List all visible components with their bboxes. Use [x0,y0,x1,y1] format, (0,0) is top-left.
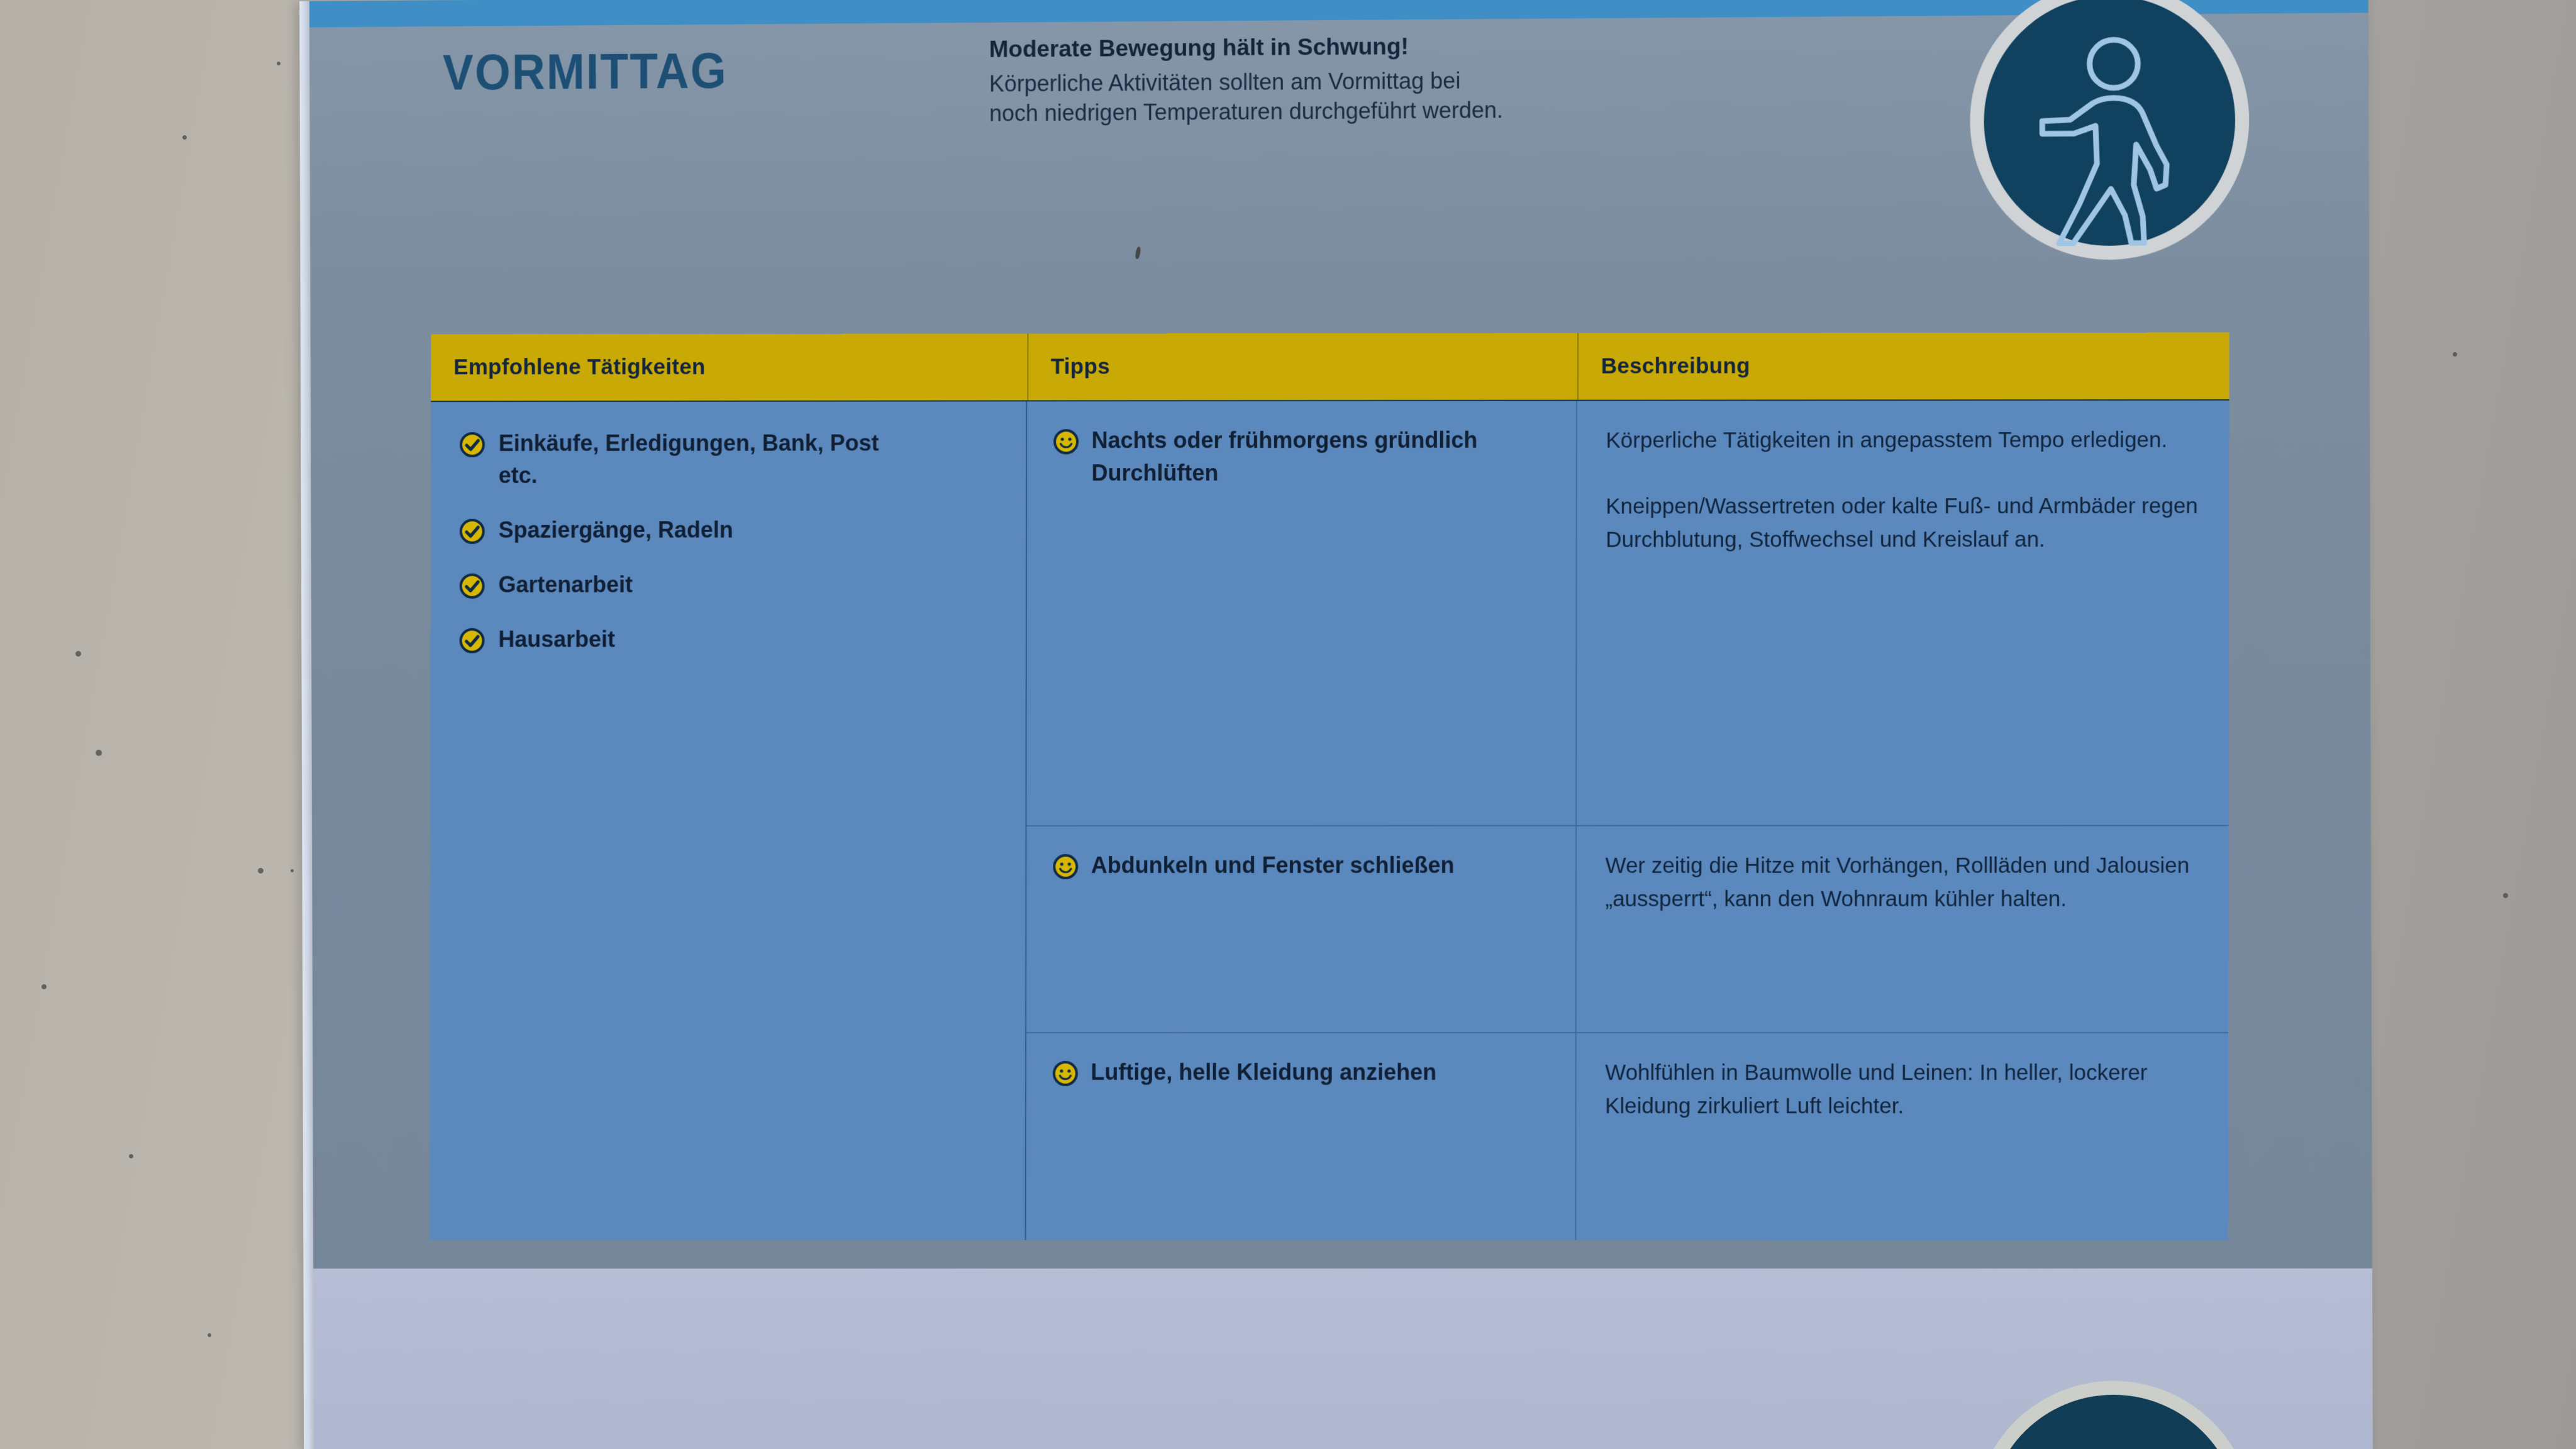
description-paragraph: Kneippen/Wassertreten oder kalte Fuß- un… [1606,489,2204,557]
activities-cell: Einkäufe, Erledigungen, Bank, Post etc. … [430,401,1027,1240]
walking-pedestrian-icon [1984,0,2236,247]
column-header-tips: Tipps [1027,333,1577,401]
description-cell: Körperliche Tätigkeiten in angepasstem T… [1577,401,2229,825]
tip-label: Abdunkeln und Fenster schließen [1091,849,1455,882]
wall-speck [277,62,280,65]
smiley-face-icon [1053,854,1078,879]
smiley-face-icon [1053,429,1079,454]
tip-item: Abdunkeln und Fenster schließen [1053,849,1558,882]
wall-speck [291,869,294,872]
check-circle-icon [460,519,485,544]
list-item: Spaziergänge, Radeln [460,514,1007,547]
description-cell: Wer zeitig die Hitze mit Vorhängen, Roll… [1576,826,2228,1032]
tip-label: Luftige, helle Kleidung anziehen [1091,1056,1436,1089]
description-paragraph: Wohlfühlen in Baumwolle und Leinen: In h… [1605,1056,2203,1123]
recommendations-table: Empfohlene Tätigkeiten Tipps Beschreibun… [430,333,2229,1240]
tip-cell: Abdunkeln und Fenster schließen [1026,826,1577,1033]
photo-scene: VORMITTAG Moderate Bewegung hält in Schw… [0,0,2576,1449]
tip-item: Nachts oder frühmorgens gründlich Durchl… [1053,424,1558,490]
activity-label: Spaziergänge, Radeln [499,514,733,546]
header-subtext-line-2: noch niedrigen Temperaturen durchgeführt… [989,91,2061,128]
tip-cell: Nachts oder frühmorgens gründlich Durchl… [1026,401,1577,825]
walking-pedestrian-badge [1970,0,2250,260]
tip-item: Luftige, helle Kleidung anziehen [1052,1056,1557,1089]
header-lead-line: Moderate Bewegung hält in Schwung! [989,28,2061,64]
check-circle-icon [460,628,485,653]
description-paragraph: Körperliche Tätigkeiten in angepasstem T… [1606,423,2204,457]
wall-speck [96,750,102,756]
check-circle-icon [460,574,485,599]
smiley-face-icon [1052,1061,1077,1086]
activity-label: Hausarbeit [498,623,615,655]
table-row: Luftige, helle Kleidung anziehen Wohlfüh… [1026,1032,2228,1240]
column-header-description: Beschreibung [1577,333,2229,400]
next-section-badge [1974,1381,2254,1449]
wall-speck [42,984,47,989]
check-circle-icon [460,432,485,457]
wall-speck [2503,893,2508,898]
tips-and-descriptions: Nachts oder frühmorgens gründlich Durchl… [1026,401,2229,1241]
description-cell: Wohlfühlen in Baumwolle und Leinen: In h… [1576,1033,2228,1240]
list-item: Einkäufe, Erledigungen, Bank, Post etc. [460,426,1007,491]
wall-speck [208,1333,211,1337]
wall-speck [75,651,81,657]
table-body: Einkäufe, Erledigungen, Bank, Post etc. … [430,401,2229,1241]
activity-label: Einkäufe, Erledigungen, Bank, Post etc. [499,427,901,492]
tip-cell: Luftige, helle Kleidung anziehen [1026,1033,1576,1240]
list-item: Hausarbeit [460,623,1007,656]
column-header-activities: Empfohlene Tätigkeiten [431,333,1027,401]
table-row: Abdunkeln und Fenster schließen Wer zeit… [1026,824,2229,1032]
table-row: Nachts oder frühmorgens gründlich Durchl… [1026,401,2229,825]
wall-speck [2453,352,2457,357]
wall-speck [129,1154,133,1158]
table-header-row: Empfohlene Tätigkeiten Tipps Beschreibun… [431,333,2229,402]
tip-label: Nachts oder frühmorgens gründlich Durchl… [1092,424,1494,490]
page-title: VORMITTAG [443,42,728,102]
activity-label: Gartenarbeit [499,569,633,601]
information-poster: VORMITTAG Moderate Bewegung hält in Schw… [299,0,2373,1449]
list-item: Gartenarbeit [460,569,1007,601]
header-text-block: Moderate Bewegung hält in Schwung! Körpe… [989,28,2061,128]
description-paragraph: Wer zeitig die Hitze mit Vorhängen, Roll… [1605,848,2203,916]
wall-speck [258,868,264,874]
wall-speck [182,135,187,140]
